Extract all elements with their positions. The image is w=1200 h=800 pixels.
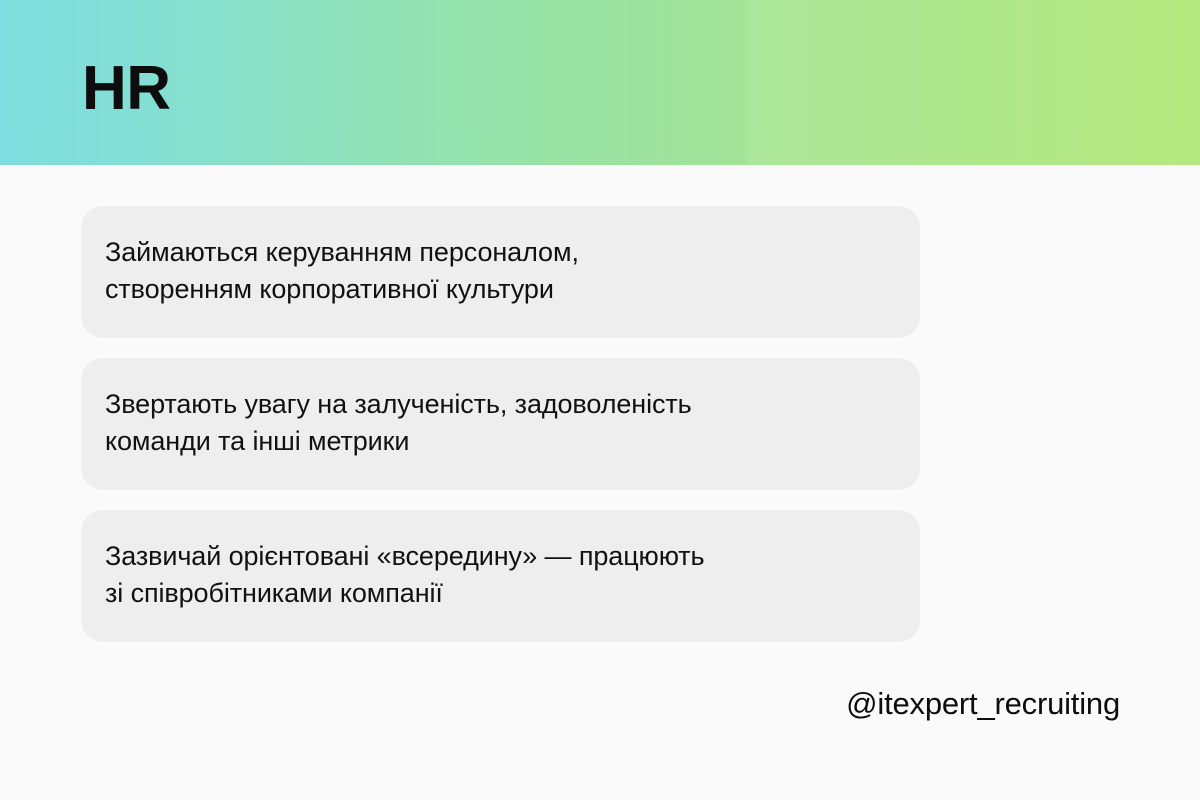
card-text: Зазвичай орієнтовані «всередину» — працю…: [105, 538, 705, 612]
list-item: Зазвичай орієнтовані «всередину» — працю…: [81, 510, 920, 642]
social-handle: @itexpert_recruiting: [846, 686, 1120, 722]
list-item: Займаються керуванням персоналом, створе…: [81, 206, 920, 338]
card-text: Займаються керуванням персоналом, створе…: [105, 234, 579, 308]
page-title: HR: [82, 58, 171, 120]
card-text: Звертають увагу на залученість, задоволе…: [105, 386, 692, 460]
bullet-card-list: Займаються керуванням персоналом, створе…: [81, 206, 920, 642]
header-banner: HR: [0, 0, 1200, 165]
list-item: Звертають увагу на залученість, задоволе…: [81, 358, 920, 490]
